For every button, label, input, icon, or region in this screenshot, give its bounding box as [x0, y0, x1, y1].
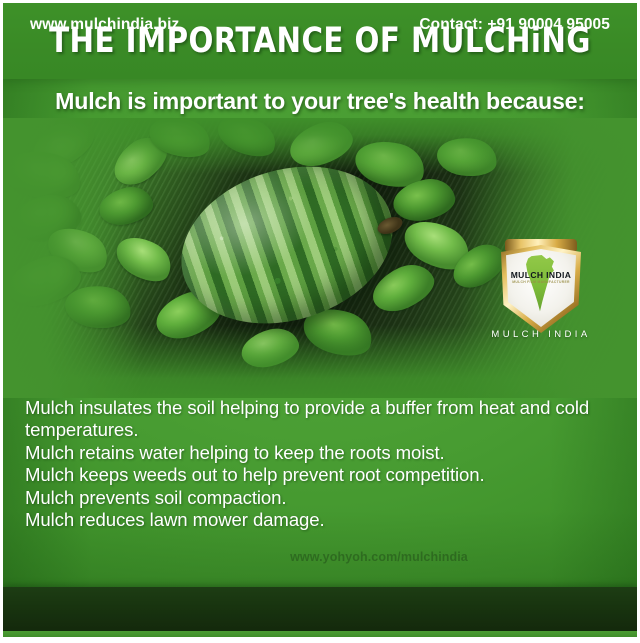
logo-wordmark: MULCH INDIA	[495, 270, 587, 280]
poster-canvas: THE IMPORTANCE OF MULCHiNG Mulch is impo…	[3, 3, 637, 637]
footer-website[interactable]: www.mulchindia.biz	[30, 16, 179, 34]
page-subtitle: Mulch is important to your tree's health…	[8, 88, 632, 115]
benefit-item: Mulch insulates the soil helping to prov…	[25, 397, 625, 442]
benefit-item: Mulch retains water helping to keep the …	[25, 442, 625, 464]
shield-inner-face	[506, 249, 576, 327]
watermark-text: www.yohyoh.com/mulchindia	[3, 550, 637, 564]
footer-band	[3, 587, 637, 631]
india-map-icon	[524, 255, 558, 313]
logo-caption: MULCH INDIA	[487, 329, 595, 340]
logo-tagline: MULCH FILM MANUFACTURER	[495, 280, 587, 284]
benefit-item: Mulch keeps weeds out to help prevent ro…	[25, 464, 625, 486]
footer-accent-strip	[3, 631, 637, 637]
footer-contact[interactable]: Contact: +91 90004 95005	[419, 16, 610, 34]
benefit-item: Mulch prevents soil compaction.	[25, 487, 625, 509]
benefit-item: Mulch reduces lawn mower damage.	[25, 509, 625, 531]
benefits-list: Mulch insulates the soil helping to prov…	[25, 397, 625, 531]
brand-logo: MULCH INDIA MULCH FILM MANUFACTURER MULC…	[495, 241, 587, 341]
